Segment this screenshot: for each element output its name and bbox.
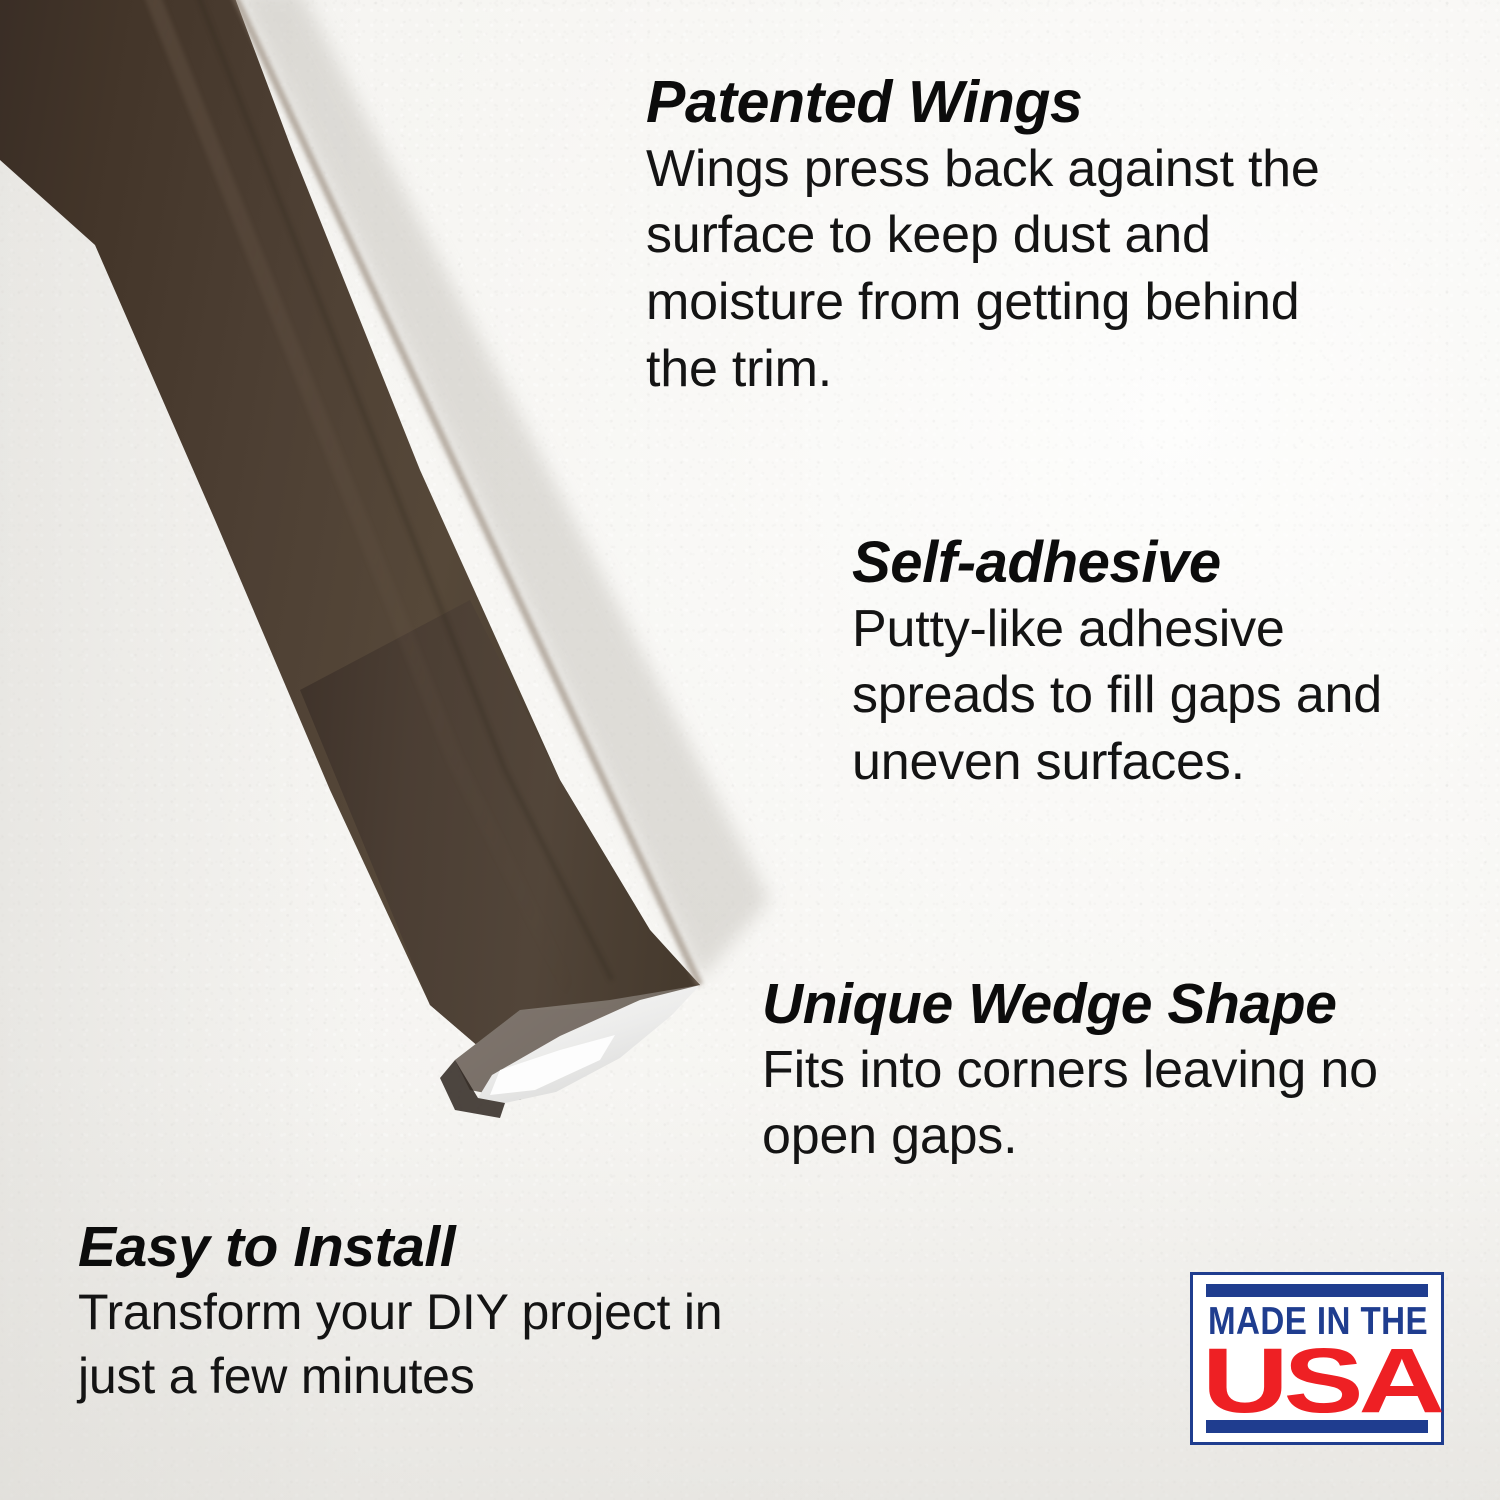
feature-body: Putty-like adhesive spreads to fill gaps…: [852, 596, 1452, 796]
badge-line2: USA: [1202, 1330, 1443, 1432]
infographic-canvas: Patented Wings Wings press back against …: [0, 0, 1500, 1500]
made-in-usa-badge: MADE IN THE USA: [1190, 1272, 1444, 1445]
feature-title: Unique Wedge Shape: [762, 975, 1482, 1035]
feature-body: Transform your DIY project in just a few…: [78, 1280, 778, 1408]
feature-title: Self-adhesive: [852, 533, 1452, 594]
feature-title: Patented Wings: [646, 72, 1346, 134]
feature-block-easy-to-install: Easy to Install Transform your DIY proje…: [78, 1218, 778, 1408]
feature-block-unique-wedge-shape: Unique Wedge Shape Fits into corners lea…: [762, 975, 1482, 1170]
made-in-usa-logo: MADE IN THE USA: [1190, 1272, 1444, 1445]
feature-block-self-adhesive: Self-adhesive Putty-like adhesive spread…: [852, 533, 1452, 796]
feature-title: Easy to Install: [78, 1218, 778, 1278]
feature-block-patented-wings: Patented Wings Wings press back against …: [646, 72, 1346, 402]
feature-body: Wings press back against the surface to …: [646, 136, 1346, 402]
feature-body: Fits into corners leaving no open gaps.: [762, 1037, 1482, 1170]
badge-bottom-bar: [1206, 1420, 1428, 1433]
badge-top-bar: [1206, 1284, 1428, 1297]
